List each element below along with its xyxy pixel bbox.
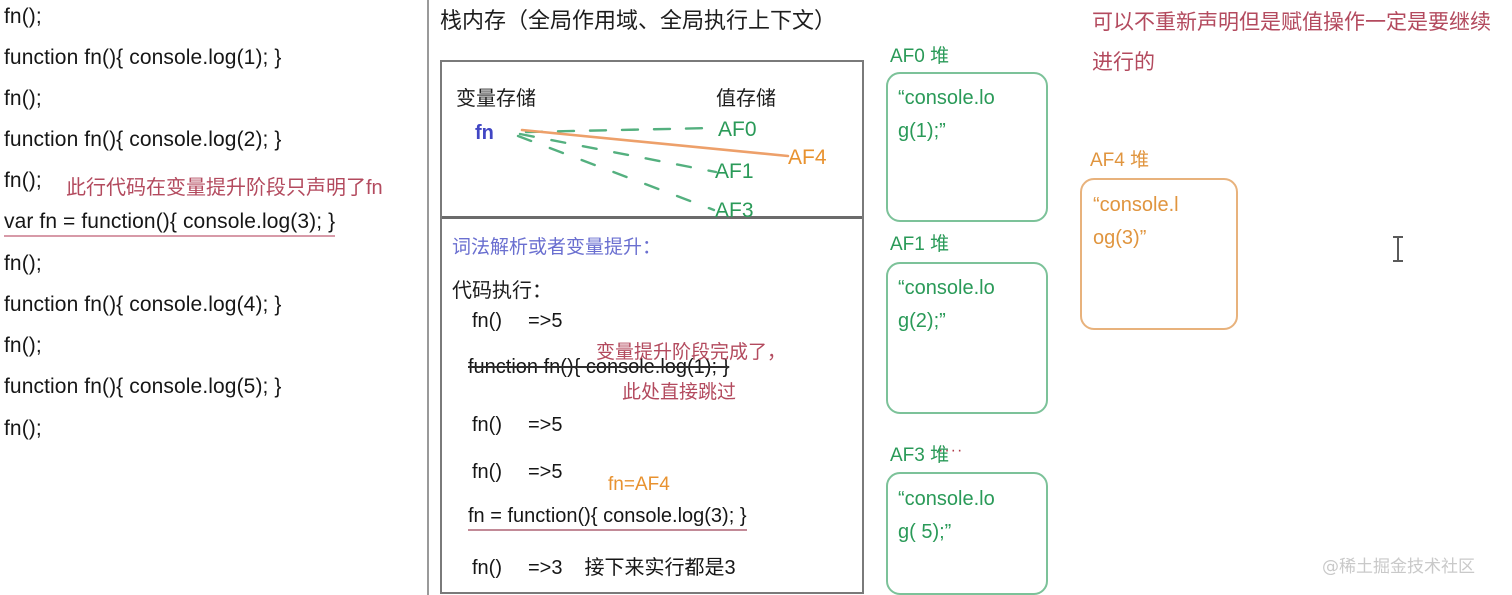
value-af3: AF3 bbox=[715, 199, 754, 223]
annotation-reassignment-required: 可以不重新声明但是赋值操作一定是要继续进行的 bbox=[1092, 3, 1492, 83]
annotation-rest-are-three: 接下来实行都是3 bbox=[562, 557, 735, 579]
code-line: fn(); bbox=[4, 87, 42, 111]
exec-result-text: =>5 bbox=[502, 461, 562, 483]
exec-call-text: fn() bbox=[472, 414, 502, 436]
code-line: fn(); bbox=[4, 334, 42, 358]
watermark: @稀土掘金技术社区 bbox=[1322, 552, 1475, 577]
exec-assignment-line: fn = function(){ console.log(3); } bbox=[468, 505, 747, 531]
code-execution-label: 代码执行： bbox=[452, 274, 552, 303]
exec-call-row: fn()=>5 bbox=[472, 310, 562, 333]
code-line: fn(); bbox=[4, 252, 42, 276]
exec-result-text: =>5 bbox=[502, 310, 562, 332]
ellipsis-dots-icon: ···· bbox=[938, 442, 963, 460]
heap-label-af4: AF4 堆 bbox=[1090, 145, 1149, 172]
exec-result-text: =>3 bbox=[502, 557, 562, 579]
column-divider bbox=[427, 0, 429, 595]
heap-content-af0: “console.lo g(1);” bbox=[898, 82, 995, 148]
code-line: fn(); bbox=[4, 169, 42, 193]
exec-call-row-final: fn()=>3接下来实行都是3 bbox=[472, 551, 736, 580]
text-cursor-icon bbox=[1392, 235, 1404, 263]
exec-call-row: fn()=>5 bbox=[472, 414, 562, 437]
value-af0: AF0 bbox=[718, 118, 757, 142]
left-code-column: fn(); function fn(){ console.log(1); } f… bbox=[0, 0, 430, 595]
annotation-skip-here: 此处直接跳过 bbox=[622, 377, 736, 404]
code-line: function fn(){ console.log(1); } bbox=[4, 46, 282, 70]
heap-content-af3: “console.lo g( 5);” bbox=[898, 483, 995, 549]
exec-call-row: fn()=>5 bbox=[472, 461, 562, 484]
value-af1: AF1 bbox=[715, 160, 754, 184]
code-line: function fn(){ console.log(4); } bbox=[4, 293, 282, 317]
whiteboard-canvas: fn(); function fn(){ console.log(1); } f… bbox=[0, 0, 1512, 595]
annotation-hoist-done: 变量提升阶段完成了， bbox=[596, 337, 786, 364]
value-af4-current: AF4 bbox=[788, 146, 827, 170]
stack-memory-title: 栈内存（全局作用域、全局执行上下文） bbox=[440, 6, 836, 36]
exec-result-text: =>5 bbox=[502, 414, 562, 436]
code-line: function fn(){ console.log(2); } bbox=[4, 128, 282, 152]
heap-label-af0: AF0 堆 bbox=[890, 41, 949, 68]
exec-call-text: fn() bbox=[472, 310, 502, 332]
annotation-fn-equals-af4: fn=AF4 bbox=[608, 474, 670, 496]
code-line-highlighted: var fn = function(){ console.log(3); } bbox=[4, 210, 335, 237]
heap-content-af4: “console.l og(3)” bbox=[1093, 189, 1179, 255]
code-line: function fn(){ console.log(5); } bbox=[4, 375, 282, 399]
code-line: fn(); bbox=[4, 417, 42, 441]
heap-content-af1: “console.lo g(2);” bbox=[898, 272, 995, 338]
reference-connector-lines bbox=[440, 60, 864, 220]
code-line: fn(); bbox=[4, 5, 42, 29]
annotation-hoist-only-declared: 此行代码在变量提升阶段只声明了fn bbox=[66, 171, 383, 200]
exec-call-text: fn() bbox=[472, 461, 502, 483]
lexical-analysis-label: 词法解析或者变量提升： bbox=[452, 232, 661, 259]
exec-call-text: fn() bbox=[472, 557, 502, 579]
heap-label-af1: AF1 堆 bbox=[890, 229, 949, 256]
